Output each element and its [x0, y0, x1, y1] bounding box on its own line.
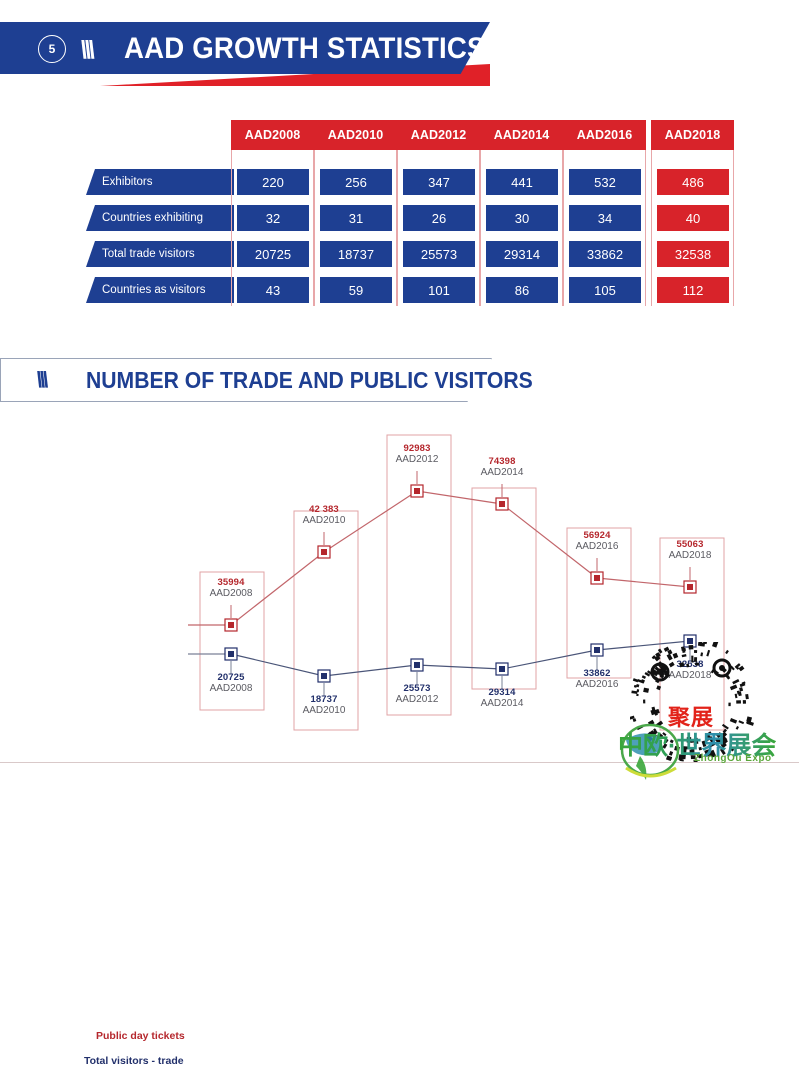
data-label-value: 29314	[460, 687, 544, 698]
table-row-label: Total trade visitors	[86, 241, 234, 267]
data-label: 29314AAD2014	[460, 687, 544, 709]
data-point-public	[496, 498, 508, 510]
table-cell: 486	[657, 169, 729, 195]
data-label: 92983AAD2012	[375, 443, 459, 465]
data-label: 42 383AAD2010	[282, 504, 366, 526]
data-label-value: 35994	[189, 577, 273, 588]
table-cell: 29314	[486, 241, 558, 267]
data-label: 25573AAD2012	[375, 683, 459, 705]
table-cell: 18737	[320, 241, 392, 267]
data-point-public	[684, 581, 696, 593]
chart-category-frame	[387, 435, 451, 715]
data-label: 56924AAD2016	[555, 530, 639, 552]
data-point-public	[591, 572, 603, 584]
data-label-category: AAD2016	[555, 679, 639, 690]
slash-decoration-icon-2: \\\	[36, 367, 45, 393]
section-number-badge: 5	[38, 35, 66, 63]
table-cell: 34	[569, 205, 641, 231]
data-label-category: AAD2018	[648, 550, 732, 561]
chart-category-frame	[660, 538, 724, 730]
visitors-line-chart: Public day tickets Total visitors - trad…	[0, 410, 799, 750]
table-column-header: AAD2014	[480, 120, 563, 150]
table-column-header: AAD2008	[231, 120, 314, 150]
table-cell: 30	[486, 205, 558, 231]
data-point-trade	[225, 648, 237, 660]
data-point-trade	[591, 644, 603, 656]
legend-public-day-tickets: Public day tickets	[96, 1030, 185, 1042]
table-column-header: AAD2012	[397, 120, 480, 150]
table-cell: 441	[486, 169, 558, 195]
data-label-value: 92983	[375, 443, 459, 454]
data-label: 33862AAD2016	[555, 668, 639, 690]
data-label: 55063AAD2018	[648, 539, 732, 561]
table-cell: 31	[320, 205, 392, 231]
table-column-header: AAD2018	[651, 120, 734, 150]
table-cell: 59	[320, 277, 392, 303]
table-cell: 33862	[569, 241, 641, 267]
table-column-header: AAD2010	[314, 120, 397, 150]
data-label-value: 33862	[555, 668, 639, 679]
data-point-public	[225, 619, 237, 631]
data-label-category: AAD2008	[189, 683, 273, 694]
data-label-value: 20725	[189, 672, 273, 683]
data-label-category: AAD2010	[282, 515, 366, 526]
data-point-public	[318, 546, 330, 558]
data-label-category: AAD2010	[282, 705, 366, 716]
data-point-trade	[684, 635, 696, 647]
footer-divider	[0, 762, 799, 763]
table-cell: 86	[486, 277, 558, 303]
table-cell: 532	[569, 169, 641, 195]
data-point-trade	[411, 659, 423, 671]
data-label: 35994AAD2008	[189, 577, 273, 599]
page-title: AAD GROWTH STATISTICS	[124, 32, 486, 66]
data-label-category: AAD2014	[460, 467, 544, 478]
data-label-value: 25573	[375, 683, 459, 694]
slash-decoration-icon: \\\	[80, 36, 92, 65]
section-banner-statistics: 5 \\\ AAD GROWTH STATISTICS	[0, 22, 500, 74]
data-label-value: 74398	[460, 456, 544, 467]
table-cell: 220	[237, 169, 309, 195]
table-cell: 112	[657, 277, 729, 303]
data-label-category: AAD2014	[460, 698, 544, 709]
data-label: 32538AAD2018	[648, 659, 732, 681]
section-title-visitors: NUMBER OF TRADE AND PUBLIC VISITORS	[86, 367, 533, 394]
table-cell: 32	[237, 205, 309, 231]
table-cell: 105	[569, 277, 641, 303]
data-label-value: 55063	[648, 539, 732, 550]
data-label-category: AAD2012	[375, 694, 459, 705]
table-cell: 40	[657, 205, 729, 231]
data-point-trade	[496, 663, 508, 675]
table-cell: 43	[237, 277, 309, 303]
table-cell: 26	[403, 205, 475, 231]
data-label-category: AAD2018	[648, 670, 732, 681]
statistics-table: ExhibitorsCountries exhibitingTotal trad…	[86, 120, 736, 310]
table-cell: 347	[403, 169, 475, 195]
table-row-label: Countries as visitors	[86, 277, 234, 303]
table-cell: 256	[320, 169, 392, 195]
data-label-category: AAD2016	[555, 541, 639, 552]
data-point-public	[411, 485, 423, 497]
data-label-value: 56924	[555, 530, 639, 541]
table-cell: 20725	[237, 241, 309, 267]
data-label-value: 32538	[648, 659, 732, 670]
data-label: 20725AAD2008	[189, 672, 273, 694]
table-cell: 25573	[403, 241, 475, 267]
data-label-value: 42 383	[282, 504, 366, 515]
table-row-label: Countries exhibiting	[86, 205, 234, 231]
table-row-label: Exhibitors	[86, 169, 234, 195]
data-label: 74398AAD2014	[460, 456, 544, 478]
data-label: 18737AAD2010	[282, 694, 366, 716]
data-label-value: 18737	[282, 694, 366, 705]
data-label-category: AAD2008	[189, 588, 273, 599]
table-column-header: AAD2016	[563, 120, 646, 150]
section-banner-visitors: \\\ NUMBER OF TRADE AND PUBLIC VISITORS	[0, 358, 500, 402]
slide: 5 \\\ AAD GROWTH STATISTICS ExhibitorsCo…	[0, 0, 799, 799]
chart-category-frame	[472, 488, 536, 689]
data-label-category: AAD2012	[375, 454, 459, 465]
table-cell: 32538	[657, 241, 729, 267]
data-point-trade	[318, 670, 330, 682]
table-cell: 101	[403, 277, 475, 303]
legend-total-visitors-trade: Total visitors - trade	[84, 1055, 184, 1067]
